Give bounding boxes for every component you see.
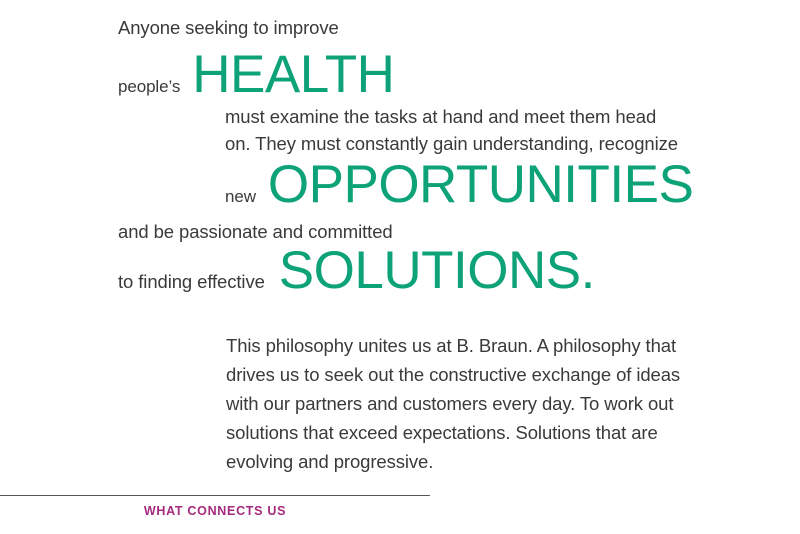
- stanza1-line1: Anyone seeking to improve: [118, 14, 339, 41]
- closing-paragraph: This philosophy unites us at B. Braun. A…: [226, 331, 696, 476]
- headline-opportunities: OPPORTUNITIES: [268, 158, 693, 211]
- stanza1-headline-row: people’s HEALTH: [118, 48, 394, 101]
- footer-divider: [0, 495, 430, 496]
- headline-solutions: SOLUTIONS.: [279, 244, 595, 297]
- stanza3-headline-row: to finding effective SOLUTIONS.: [118, 244, 595, 297]
- stanza2-line2: on. They must constantly gain understand…: [225, 130, 678, 157]
- stanza2-line1: must examine the tasks at hand and meet …: [225, 103, 678, 130]
- stanza2-lead-in: new: [225, 186, 256, 208]
- stanza1-lead-in: people’s: [118, 76, 180, 98]
- paragraph-line4: solutions that exceed expectations. Solu…: [226, 418, 696, 447]
- paragraph-line2: drives us to seek out the constructive e…: [226, 360, 696, 389]
- paragraph-line3: with our partners and customers every da…: [226, 389, 696, 418]
- footer-claim: WHAT CONNECTS US: [0, 504, 430, 518]
- brand-statement-page: Anyone seeking to improve people’s HEALT…: [0, 0, 800, 534]
- stanza2-body: must examine the tasks at hand and meet …: [225, 103, 678, 157]
- paragraph-line1: This philosophy unites us at B. Braun. A…: [226, 331, 696, 360]
- stanza3-lead-in: to finding effective: [118, 268, 265, 295]
- headline-health: HEALTH: [192, 48, 394, 101]
- stanza2-headline-row: new OPPORTUNITIES: [225, 158, 693, 211]
- paragraph-line5: evolving and progressive.: [226, 447, 696, 476]
